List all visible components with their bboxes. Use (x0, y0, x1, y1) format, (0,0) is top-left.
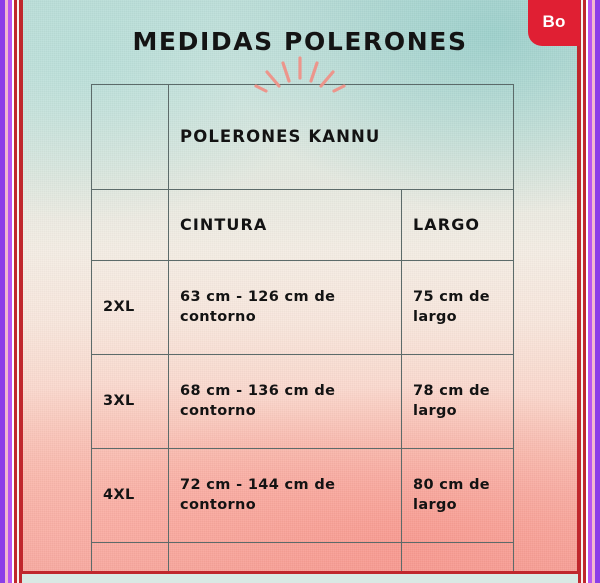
cell-size: 4XL (92, 449, 169, 543)
cell-waist: 63 cm - 126 cm de contorno (169, 261, 402, 355)
cell-waist: 72 cm - 144 cm de contorno (169, 449, 402, 543)
table-row-brand: POLERONES KANNU (92, 85, 514, 190)
poster-background: MEDIDAS POLERONES POLERONES (20, 0, 580, 574)
measurements-table: POLERONES KANNU CINTURA LARGO 2XL 63 cm … (91, 84, 514, 574)
brand-label: POLERONES KANNU (169, 85, 514, 190)
table-row: 3XL 68 cm - 136 cm de contorno 78 cm de … (92, 355, 514, 449)
cell-length: 75 cm de largo (402, 261, 514, 355)
cell-waist: 68 cm - 136 cm de contorno (169, 355, 402, 449)
brand-row-spacer (92, 85, 169, 190)
column-header-waist: CINTURA (169, 190, 402, 261)
cell-size: 5XL (92, 543, 169, 575)
cell-waist: 74 cm - 148 cm de contorno (169, 543, 402, 575)
bo-badge[interactable]: Bo (528, 0, 580, 46)
right-edge-stripes (578, 0, 600, 583)
table-row: 5XL 74 cm - 148 cm de contorno 84 cm de … (92, 543, 514, 575)
page-title: MEDIDAS POLERONES (23, 27, 577, 56)
column-header-length: LARGO (402, 190, 514, 261)
cell-length: 78 cm de largo (402, 355, 514, 449)
column-header-size (92, 190, 169, 261)
table-row-headers: CINTURA LARGO (92, 190, 514, 261)
table-row: 2XL 63 cm - 126 cm de contorno 75 cm de … (92, 261, 514, 355)
image-canvas: MEDIDAS POLERONES POLERONES (0, 0, 600, 583)
table-row: 4XL 72 cm - 144 cm de contorno 80 cm de … (92, 449, 514, 543)
cell-length: 80 cm de largo (402, 449, 514, 543)
sunburst-icon (245, 56, 355, 98)
cell-size: 3XL (92, 355, 169, 449)
cell-size: 2XL (92, 261, 169, 355)
left-edge-stripes (0, 0, 22, 583)
cell-length: 84 cm de largo (402, 543, 514, 575)
